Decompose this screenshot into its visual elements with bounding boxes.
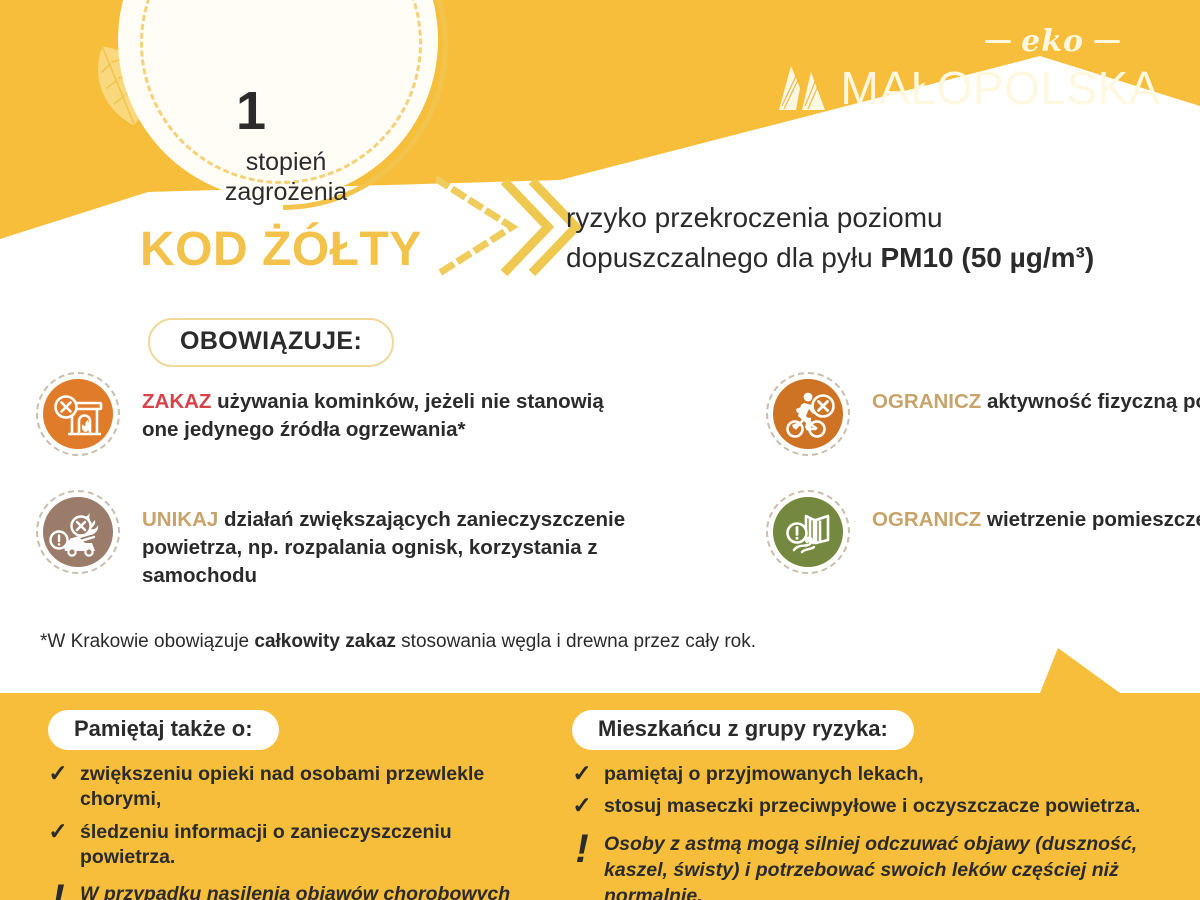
logo-malopolska: eko MAŁOPOLSKA: [775, 24, 1160, 115]
bottom-left-title: Pamiętaj także o:: [48, 710, 279, 750]
footnote-prefix: *W Krakowie obowiązuje: [40, 631, 254, 652]
obligation-body-ventilation: wietrzenie pomieszczeń: [981, 508, 1200, 531]
headline-pm10-value: PM10 (50 µg/m³): [880, 242, 1094, 273]
bottom-right-list: ✓ pamiętaj o przyjmowanych lekach, ✓ sto…: [572, 762, 1182, 820]
obligation-item-ventilation: OGRANICZ wietrzenie pomieszczeń: [766, 490, 1200, 574]
infographic-poster: eko MAŁOPOLSKA 1 stopień: [0, 0, 1200, 900]
obligations-column-left: ZAKAZ używania kominków, jeżeli nie stan…: [36, 372, 636, 624]
exclamation-icon: !: [48, 882, 68, 900]
obligation-keyword-unikaj: UNIKAJ: [142, 508, 218, 531]
obligations-column-right: OGRANICZ aktywność fizyczną poza domem: [766, 372, 1200, 608]
headline-line-2-plain: dopuszczalnego dla pyłu: [566, 242, 880, 273]
obligation-body-fireplace: używania kominków, jeżeli nie stanowią o…: [142, 390, 604, 441]
threat-level-label: stopień zagrożenia: [196, 148, 376, 207]
obligation-keyword-ogranicz-1: OGRANICZ: [872, 390, 981, 413]
logo-eko-script: eko: [775, 24, 1120, 59]
double-chevron-right-icon: [436, 168, 581, 286]
obligation-item-fireplace: ZAKAZ używania kominków, jeżeli nie stan…: [36, 372, 636, 456]
check-icon: ✓: [48, 762, 68, 785]
fireplace-ban-icon: [36, 372, 120, 456]
list-item: ✓ śledzeniu informacji o zanieczyszczeni…: [48, 820, 548, 871]
headline-line-2: dopuszczalnego dla pyłu PM10 (50 µg/m³): [566, 238, 1200, 278]
exclamation-icon: !: [572, 832, 592, 866]
threat-level-label-line2: zagrożenia: [196, 178, 376, 208]
threat-level-number: 1: [236, 80, 266, 142]
obligation-item-outdoor-activity: OGRANICZ aktywność fizyczną poza domem: [766, 372, 1200, 456]
obligation-text-ventilation: OGRANICZ wietrzenie pomieszczeń: [872, 490, 1200, 534]
bottom-left-list: ✓ zwiększeniu opieki nad osobami przewle…: [48, 762, 548, 870]
bottom-left-warning: ! W przypadku nasilenia objawów chorobow…: [48, 882, 548, 900]
obligation-text-outdoor-activity: OGRANICZ aktywność fizyczną poza domem: [872, 372, 1200, 416]
open-window-warning-icon: [766, 490, 850, 574]
obligation-text-bonfire-car: UNIKAJ działań zwiększających zanieczysz…: [142, 490, 636, 590]
logo-main-row: MAŁOPOLSKA: [775, 61, 1160, 115]
logo-dash-left: [985, 40, 1011, 43]
obligation-keyword-zakaz: ZAKAZ: [142, 390, 211, 413]
footnote-bold: całkowity zakaz: [254, 631, 396, 652]
bottom-right-item-2: stosuj maseczki przeciwpyłowe i oczyszcz…: [604, 794, 1140, 819]
obligation-text-fireplace: ZAKAZ używania kominków, jeżeli nie stan…: [142, 372, 636, 444]
mountain-m-icon: [775, 62, 829, 115]
footnote: *W Krakowie obowiązuje całkowity zakaz s…: [40, 631, 756, 653]
obligation-keyword-ogranicz-2: OGRANICZ: [872, 508, 981, 531]
bottom-right-warning-text: Osoby z astmą mogą silniej odczuwać obja…: [604, 832, 1182, 900]
obligation-item-bonfire-car: UNIKAJ działań zwiększających zanieczysz…: [36, 490, 636, 590]
bonfire-car-ban-icon: [36, 490, 120, 574]
list-item: ✓ pamiętaj o przyjmowanych lekach,: [572, 762, 1182, 787]
check-icon: ✓: [48, 820, 68, 843]
threat-level-label-line1: stopień: [196, 148, 376, 178]
check-icon: ✓: [572, 762, 592, 785]
runner-bicycle-ban-icon: [766, 372, 850, 456]
headline: ryzyko przekroczenia poziomu dopuszczaln…: [566, 198, 1200, 278]
obligation-body-outdoor-activity: aktywność fizyczną poza domem: [981, 390, 1200, 413]
bottom-column-remember: Pamiętaj także o: ✓ zwiększeniu opieki n…: [48, 710, 548, 900]
obligations-badge: OBOWIĄZUJE:: [148, 318, 394, 367]
check-icon: ✓: [572, 794, 592, 817]
bottom-right-title: Mieszkańcu z grupy ryzyka:: [572, 710, 914, 750]
logo-wordmark: MAŁOPOLSKA: [841, 61, 1160, 115]
bottom-left-item-2: śledzeniu informacji o zanieczyszczeniu …: [80, 820, 548, 871]
list-item: ✓ stosuj maseczki przeciwpyłowe i oczysz…: [572, 794, 1182, 819]
bottom-right-item-1: pamiętaj o przyjmowanych lekach,: [604, 762, 924, 787]
footnote-suffix: stosowania węgla i drewna przez cały rok…: [396, 631, 756, 652]
logo-eko-text: eko: [1021, 24, 1084, 59]
bottom-column-risk-group: Mieszkańcu z grupy ryzyka: ✓ pamiętaj o …: [572, 710, 1182, 900]
logo-dash-right: [1094, 40, 1120, 43]
code-label: KOD ŻÓŁTY: [140, 222, 422, 277]
bottom-right-warning: ! Osoby z astmą mogą silniej odczuwać ob…: [572, 832, 1182, 900]
headline-line-1: ryzyko przekroczenia poziomu: [566, 198, 1200, 238]
list-item: ✓ zwiększeniu opieki nad osobami przewle…: [48, 762, 548, 813]
bottom-left-item-1: zwiększeniu opieki nad osobami przewlekl…: [80, 762, 548, 813]
bottom-left-warning-text: W przypadku nasilenia objawów chorobowyc…: [80, 882, 548, 900]
